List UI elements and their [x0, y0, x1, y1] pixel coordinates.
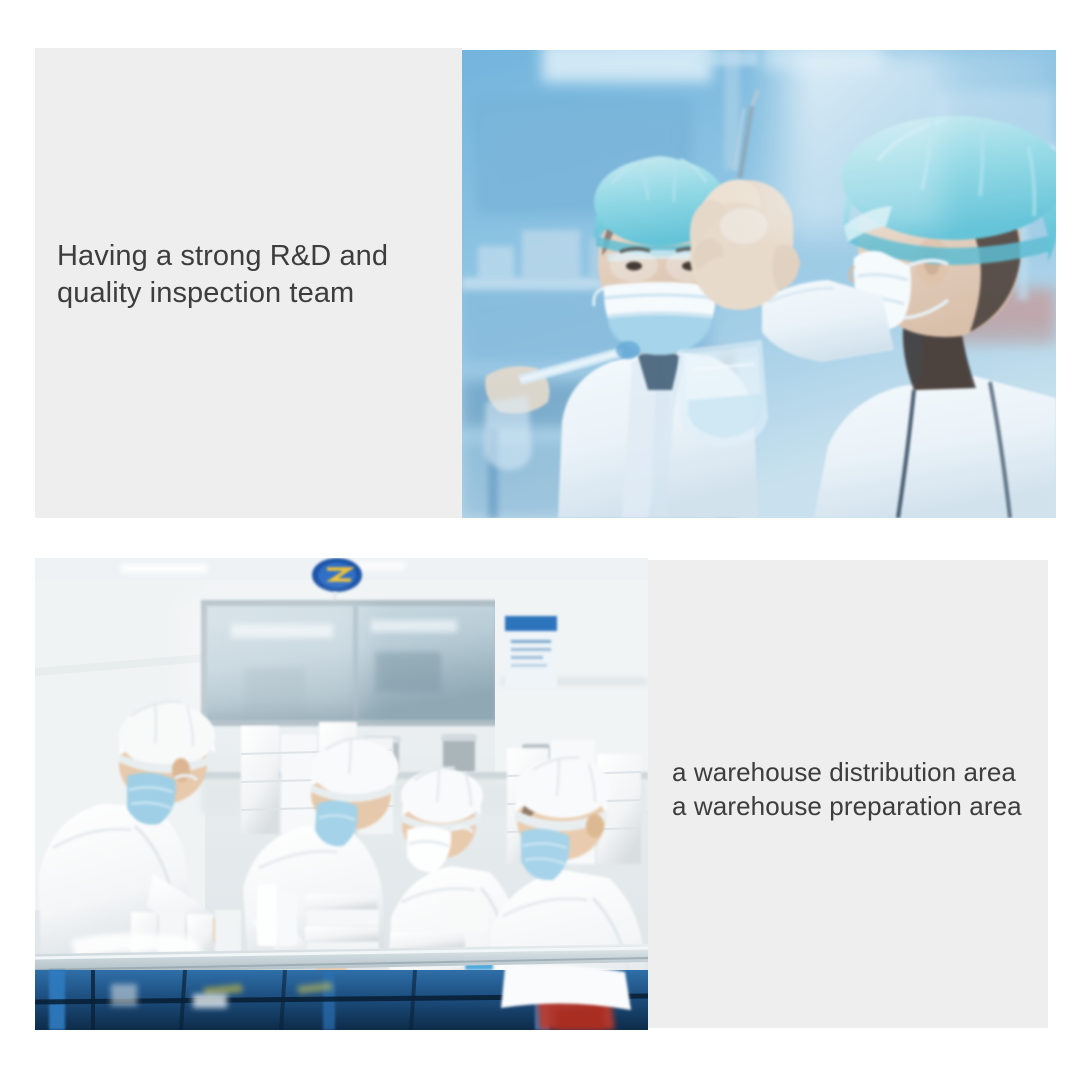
- wall-poster: [505, 616, 557, 688]
- composite-image: Having a strong R&D and quality inspecti…: [0, 0, 1080, 1080]
- caption-warehouse: a warehouse distribution area a warehous…: [672, 756, 1062, 824]
- caption-panel-bottom: a warehouse distribution area a warehous…: [648, 560, 1048, 1028]
- blue-table-frame: [35, 966, 648, 1030]
- blue-circular-sign: [312, 558, 362, 592]
- caption-panel-top: Having a strong R&D and quality inspecti…: [35, 48, 462, 518]
- section-rd-quality: Having a strong R&D and quality inspecti…: [35, 48, 1056, 518]
- lab-technicians-illustration: [462, 50, 1056, 518]
- section-warehouse: a warehouse distribution area a warehous…: [35, 558, 1048, 1030]
- warehouse-packing-photo: [35, 558, 648, 1030]
- lab-technicians-photo: [462, 50, 1056, 518]
- warehouse-packing-illustration: [35, 558, 648, 1030]
- caption-rd-quality: Having a strong R&D and quality inspecti…: [57, 238, 452, 312]
